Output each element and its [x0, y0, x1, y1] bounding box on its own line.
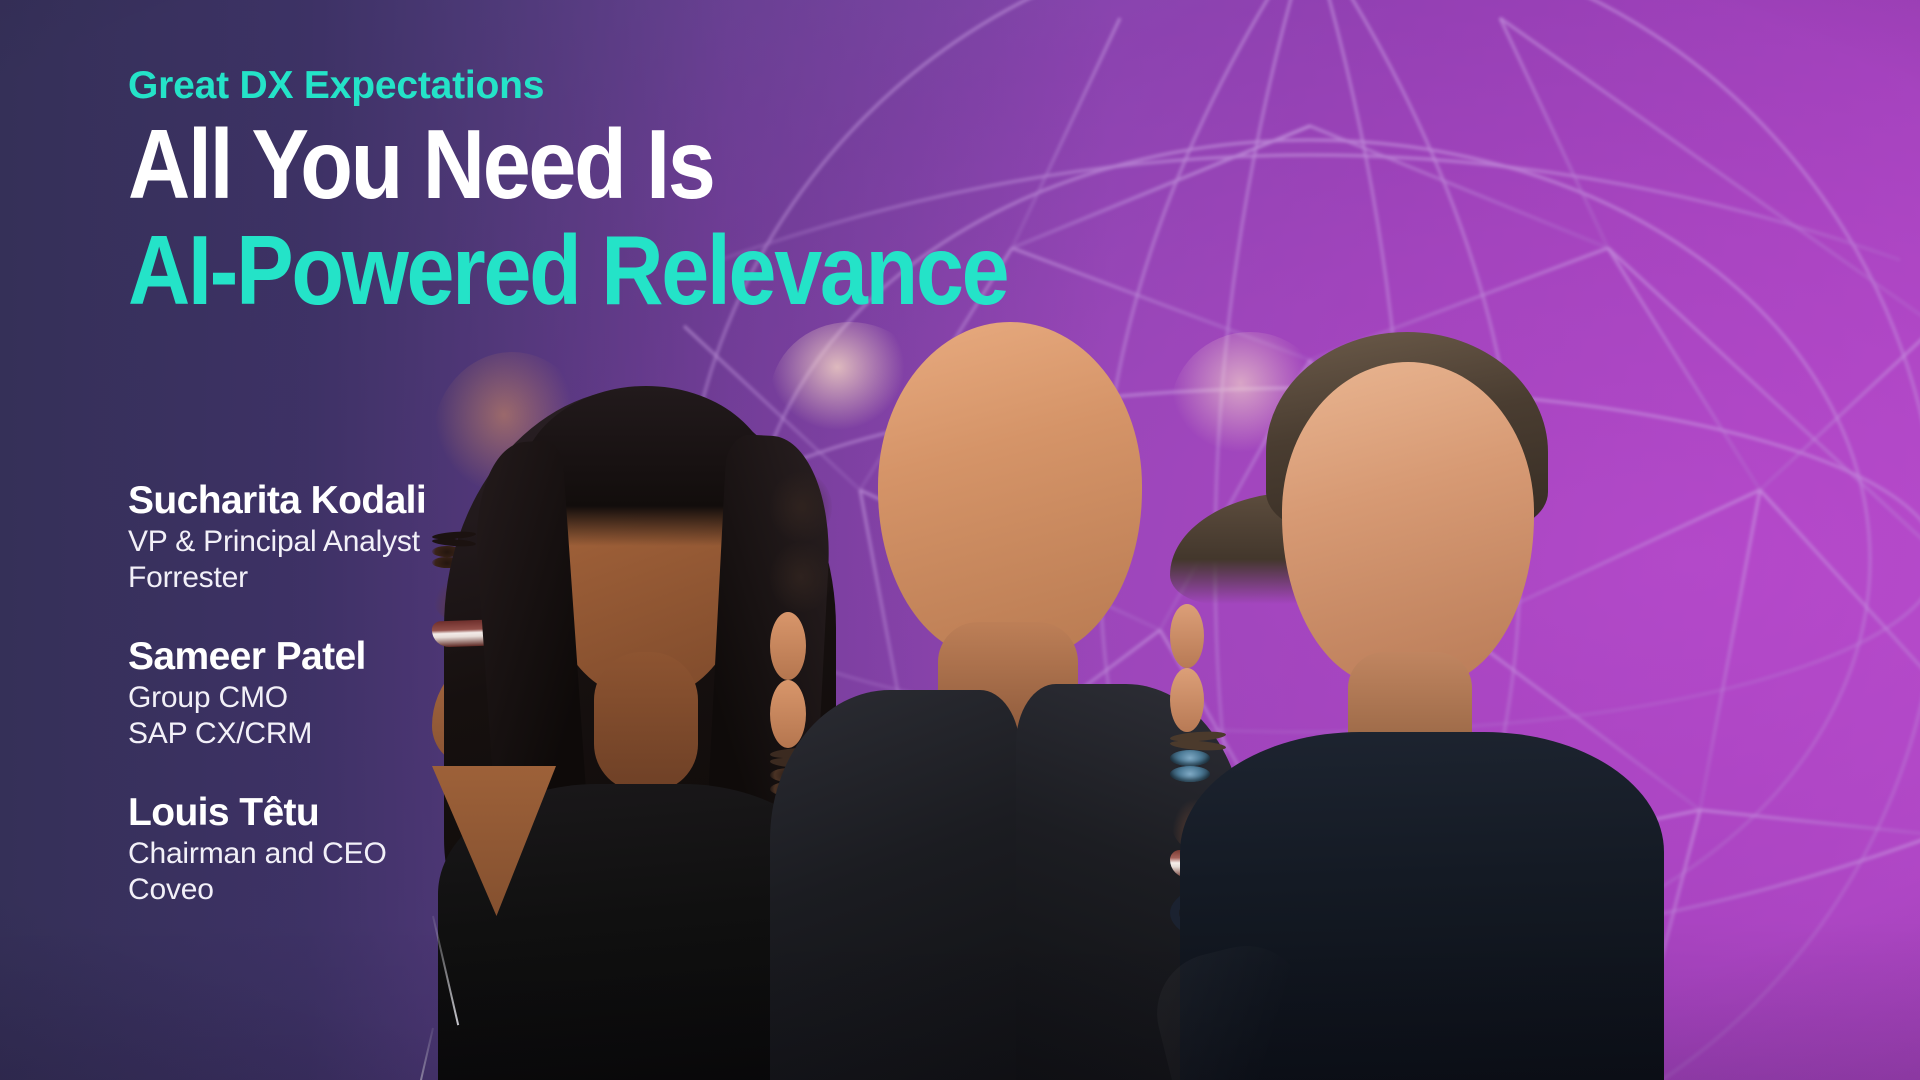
series-eyebrow: Great DX Expectations — [128, 64, 544, 108]
speaker-list: Sucharita Kodali VP & Principal Analyst … — [128, 478, 648, 908]
headline: All You Need Is AI-Powered Relevance — [128, 112, 1248, 324]
promo-banner: Great DX Expectations All You Need Is AI… — [0, 0, 1920, 1080]
speaker-name: Sucharita Kodali — [128, 478, 648, 524]
speaker-title: Chairman and CEO — [128, 836, 648, 872]
speaker-company: Forrester — [128, 560, 648, 596]
text-content: Great DX Expectations All You Need Is AI… — [128, 0, 1248, 1080]
speaker-entry-2: Sameer Patel Group CMO SAP CX/CRM — [128, 634, 648, 752]
headline-line-1: All You Need Is — [128, 112, 1114, 218]
speaker-title: Group CMO — [128, 680, 648, 716]
speaker-entry-3: Louis Têtu Chairman and CEO Coveo — [128, 790, 648, 908]
speaker-name: Louis Têtu — [128, 790, 648, 836]
speaker-company: Coveo — [128, 872, 648, 908]
speaker-name: Sameer Patel — [128, 634, 648, 680]
headline-line-2: AI-Powered Relevance — [128, 218, 1114, 324]
speaker-company: SAP CX/CRM — [128, 716, 648, 752]
speaker-entry-1: Sucharita Kodali VP & Principal Analyst … — [128, 478, 648, 596]
speaker-title: VP & Principal Analyst — [128, 524, 648, 560]
